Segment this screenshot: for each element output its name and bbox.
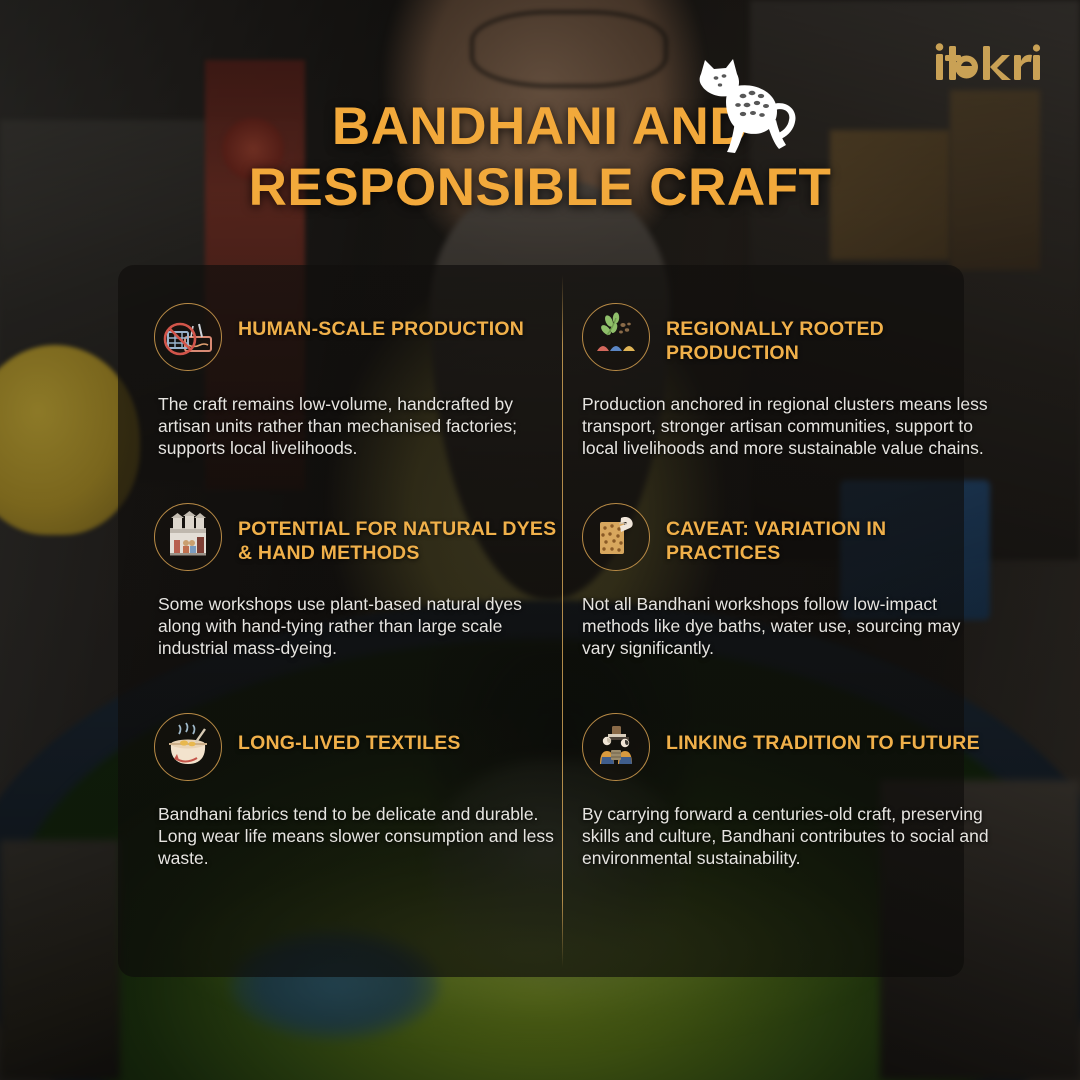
- artisan-workshop-building-icon: [154, 503, 222, 571]
- feature-grid: HUMAN-SCALE PRODUCTION The craft remains…: [118, 265, 964, 977]
- feature-head: LINKING TRADITION TO FUTURE: [582, 713, 990, 781]
- hand-holding-patterned-cloth-icon: [582, 503, 650, 571]
- feature-title: HUMAN-SCALE PRODUCTION: [238, 303, 524, 341]
- feature-head: LONG-LIVED TEXTILES: [154, 713, 562, 781]
- brand-logo[interactable]: itokri: [934, 42, 1042, 86]
- feature-head: CAVEAT: VARIATION IN PRACTICES: [582, 503, 990, 571]
- content-panel: HUMAN-SCALE PRODUCTION The craft remains…: [118, 265, 964, 977]
- feature-body: Not all Bandhani workshops follow low-im…: [582, 593, 990, 659]
- feature-title: LONG-LIVED TEXTILES: [238, 713, 461, 755]
- poster-header: BANDHANI AND RESPONSIBLE CRAFT: [0, 0, 1080, 262]
- feature-head: REGIONALLY ROOTED PRODUCTION: [582, 303, 990, 371]
- title-line-2: RESPONSIBLE CRAFT: [0, 157, 1080, 218]
- feature-item-caveat-variation-in-practices: CAVEAT: VARIATION IN PRACTICES Not all B…: [582, 503, 990, 659]
- feature-item-human-scale-production: HUMAN-SCALE PRODUCTION The craft remains…: [154, 303, 562, 459]
- leaves-natural-dye-powders-icon: [582, 303, 650, 371]
- feature-title: POTENTIAL FOR NATURAL DYES & HAND METHOD…: [238, 503, 562, 565]
- steaming-dye-pot-icon: [154, 713, 222, 781]
- feature-item-regionally-rooted-production: REGIONALLY ROOTED PRODUCTION Production …: [582, 303, 990, 459]
- feature-title: CAVEAT: VARIATION IN PRACTICES: [666, 503, 990, 565]
- feature-head: POTENTIAL FOR NATURAL DYES & HAND METHOD…: [154, 503, 562, 571]
- feature-body: The craft remains low-volume, handcrafte…: [154, 393, 562, 459]
- feature-body: By carrying forward a centuries-old craf…: [582, 803, 990, 869]
- feature-title: LINKING TRADITION TO FUTURE: [666, 713, 980, 755]
- feature-item-natural-dyes-hand-methods: POTENTIAL FOR NATURAL DYES & HAND METHOD…: [154, 503, 562, 659]
- feature-head: HUMAN-SCALE PRODUCTION: [154, 303, 562, 371]
- infographic-poster: BANDHANI AND RESPONSIBLE CRAFT: [0, 0, 1080, 1080]
- feature-body: Some workshops use plant-based natural d…: [154, 593, 562, 659]
- two-artisans-working-icon: [582, 713, 650, 781]
- feature-title: REGIONALLY ROOTED PRODUCTION: [666, 303, 990, 365]
- feature-body: Bandhani fabrics tend to be delicate and…: [154, 803, 562, 869]
- no-factory-machine-icon: [154, 303, 222, 371]
- feature-body: Production anchored in regional clusters…: [582, 393, 990, 459]
- feature-item-linking-tradition-to-future: LINKING TRADITION TO FUTURE By carrying …: [582, 713, 990, 869]
- itokri-logo-icon: [934, 42, 1042, 86]
- page-title: BANDHANI AND RESPONSIBLE CRAFT: [0, 96, 1080, 218]
- cat-illustration-icon: [683, 52, 803, 156]
- feature-item-long-lived-textiles: LONG-LIVED TEXTILES Bandhani fabrics ten…: [154, 713, 562, 869]
